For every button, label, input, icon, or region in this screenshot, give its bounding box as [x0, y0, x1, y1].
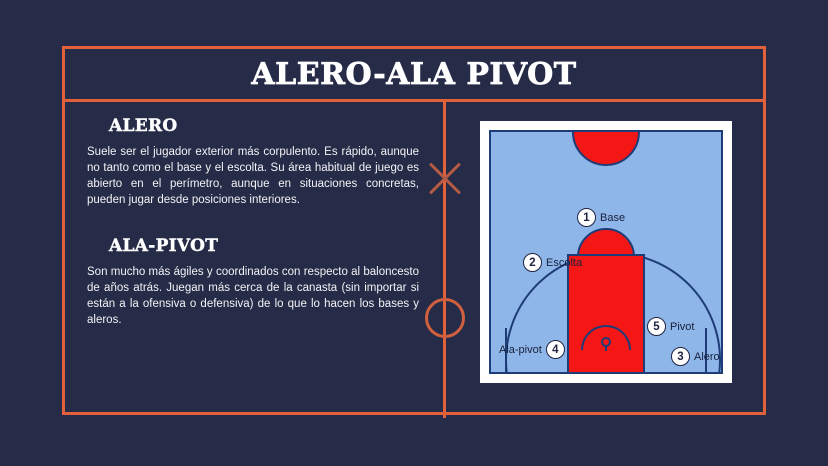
diagram-column: 1 Base 2 Escolta 5 Pivot 4 Ala-pivot 3 — [446, 102, 766, 418]
hoop-icon — [601, 337, 611, 347]
player-number: 2 — [523, 253, 542, 272]
player-marker-ala-pivot: 4 Ala-pivot — [499, 340, 565, 359]
section-body-ala-pivot: Son mucho más ágiles y coordinados con r… — [87, 264, 421, 328]
section-body-alero: Suele ser el jugador exterior más corpul… — [87, 144, 421, 208]
player-label: Pivot — [670, 321, 694, 333]
player-label: Ala-pivot — [499, 344, 542, 356]
player-number: 1 — [577, 208, 596, 227]
player-number: 5 — [647, 317, 666, 336]
player-label: Alero — [694, 351, 720, 363]
slide-frame: ALERO-ALA PIVOT ALERO Suele ser el jugad… — [62, 46, 766, 415]
player-label: Base — [600, 212, 625, 224]
title-band: ALERO-ALA PIVOT — [65, 49, 763, 102]
player-marker-alero: 3 Alero — [671, 347, 720, 366]
basketball-court-diagram: 1 Base 2 Escolta 5 Pivot 4 Ala-pivot 3 — [489, 130, 723, 374]
section-heading-alero: ALERO — [109, 116, 421, 136]
center-circle — [572, 130, 640, 166]
court-frame: 1 Base 2 Escolta 5 Pivot 4 Ala-pivot 3 — [480, 121, 732, 383]
page-title: ALERO-ALA PIVOT — [251, 57, 576, 92]
section-heading-ala-pivot: ALA-PIVOT — [109, 236, 421, 256]
text-column: ALERO Suele ser el jugador exterior más … — [65, 102, 443, 418]
player-marker-escolta: 2 Escolta — [523, 253, 582, 272]
player-marker-pivot: 5 Pivot — [647, 317, 694, 336]
section-ala-pivot: ALA-PIVOT Son mucho más ágiles y coordin… — [87, 236, 421, 328]
player-number: 3 — [671, 347, 690, 366]
player-number: 4 — [546, 340, 565, 359]
player-label: Escolta — [546, 257, 582, 269]
player-marker-base: 1 Base — [577, 208, 625, 227]
section-alero: ALERO Suele ser el jugador exterior más … — [87, 116, 421, 208]
